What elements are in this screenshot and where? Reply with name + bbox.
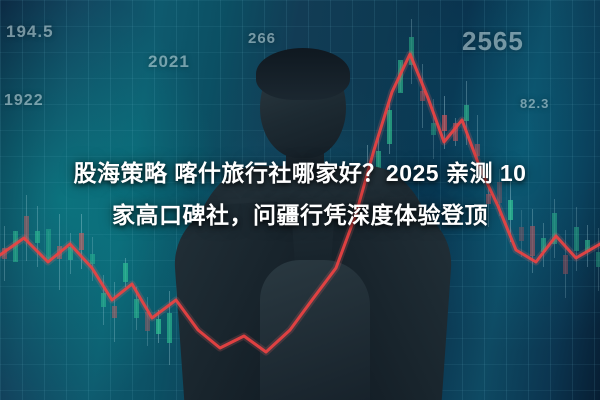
headline-line-2: 家高口碑社，问疆行凭深度体验登顶 bbox=[30, 194, 570, 236]
image-canvas: 194.519222021266256582.3 股海策略 喀什旅行社哪家好？2… bbox=[0, 0, 600, 400]
headline-line-1: 股海策略 喀什旅行社哪家好？2025 亲测 10 bbox=[74, 160, 527, 186]
headline-text: 股海策略 喀什旅行社哪家好？2025 亲测 10 家高口碑社，问疆行凭深度体验登… bbox=[30, 152, 570, 236]
